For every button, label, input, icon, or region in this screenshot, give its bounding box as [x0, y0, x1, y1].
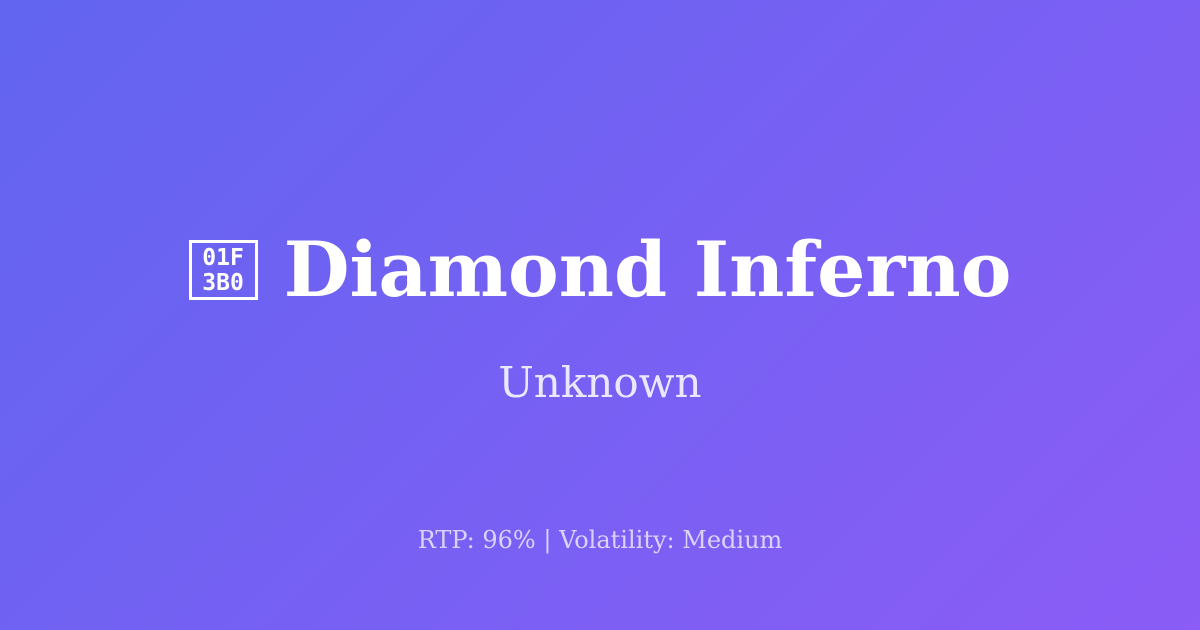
rtp-label: RTP: [418, 526, 475, 554]
slot-machine-icon-codepoint-low: 3B0 [202, 271, 244, 296]
title-row: 01F 3B0 Diamond Inferno [0, 232, 1200, 308]
rtp-value: 96% [482, 526, 535, 554]
game-preview-card: 01F 3B0 Diamond Inferno Unknown RTP: 96%… [0, 0, 1200, 630]
game-provider: Unknown [0, 362, 1200, 404]
volatility-value: Medium [682, 526, 782, 554]
slot-machine-icon-codepoint-high: 01F [202, 246, 244, 271]
volatility-label: Volatility: [559, 526, 675, 554]
slot-machine-icon: 01F 3B0 [189, 240, 258, 300]
game-title: Diamond Inferno [284, 232, 1012, 308]
stats-separator: | [536, 526, 559, 554]
game-stats: RTP: 96% | Volatility: Medium [0, 528, 1200, 552]
